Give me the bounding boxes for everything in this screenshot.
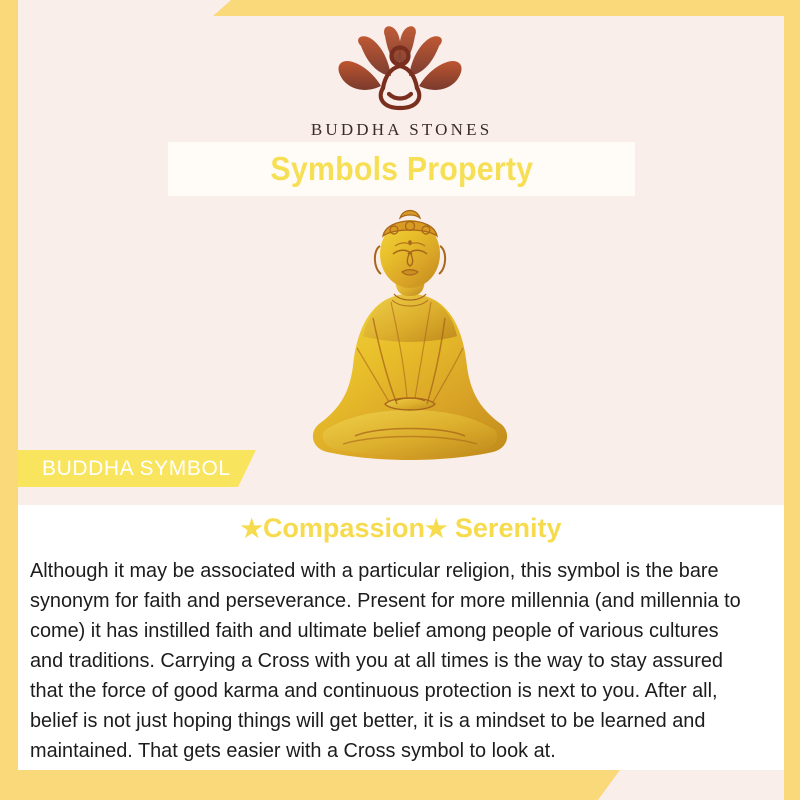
lotus-meditation-figure-icon (0, 18, 800, 118)
brand-header: BUDDHA STONES (0, 18, 800, 140)
poster-root: BUDDHA STONES Symbols Property (0, 0, 800, 800)
bottom-accent-bar (0, 770, 620, 800)
subtitle-keyword-one: Compassion (263, 513, 425, 543)
star-icon-right: ★ (425, 515, 447, 543)
page-title: Symbols Property (270, 150, 533, 188)
brand-name: BUDDHA STONES (0, 120, 800, 140)
section-ribbon: BUDDHA SYMBOL (18, 450, 256, 487)
subtitle-keyword-two: Serenity (455, 513, 562, 543)
star-icon-left: ★ (241, 515, 263, 543)
seated-golden-buddha-statue-icon (295, 198, 525, 498)
section-ribbon-label: BUDDHA SYMBOL (18, 457, 231, 481)
subtitle: ★Compassion★ Serenity (18, 513, 784, 544)
title-band: Symbols Property (168, 142, 635, 196)
body-paragraph: Although it may be associated with a par… (30, 556, 752, 766)
top-accent-bar (213, 0, 800, 16)
